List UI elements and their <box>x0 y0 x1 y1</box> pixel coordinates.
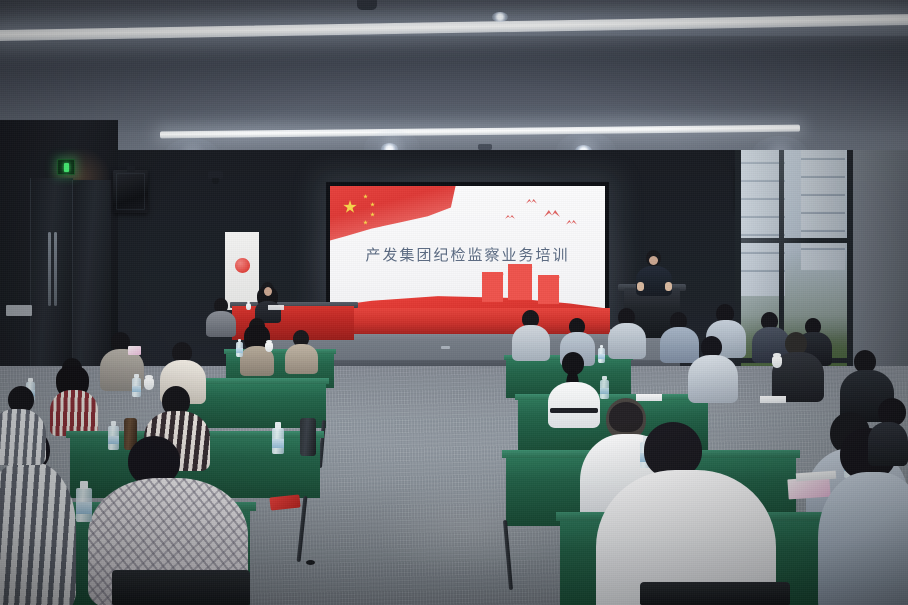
speaker-mount-left <box>127 166 135 172</box>
handout-paper <box>268 305 284 310</box>
chinese-national-flag <box>330 186 456 246</box>
slide-title: 产发集团纪检监察业务培训 <box>330 244 605 265</box>
flying-bird-icon <box>566 220 577 226</box>
lidded-tea-cup <box>265 342 273 352</box>
door-handle[interactable] <box>54 232 57 306</box>
running-man-icon <box>64 163 69 172</box>
pink-note <box>128 346 141 355</box>
lidded-tea-cup <box>772 356 782 368</box>
saluting-figure-silhouette <box>482 272 503 302</box>
wall-switch-plate[interactable] <box>6 305 32 316</box>
stage-floor-marker <box>441 346 450 349</box>
door-handle[interactable] <box>48 232 51 306</box>
presenter-hand-left <box>637 282 644 291</box>
window-transom <box>735 238 853 243</box>
conference-chair[interactable] <box>112 570 250 605</box>
flying-bird-icon <box>526 199 537 205</box>
handout-paper <box>636 394 662 401</box>
presenter-hand-right <box>665 282 672 291</box>
thermos-flask <box>300 418 316 456</box>
ceiling-camera-icon <box>208 171 223 179</box>
water-bottle <box>598 348 605 363</box>
water-bottle <box>600 380 609 399</box>
lidded-tea-cup <box>246 303 251 310</box>
ceiling-recess-band <box>0 36 908 132</box>
chair-foot <box>306 560 315 565</box>
saluting-figure-silhouette <box>538 275 559 304</box>
emergency-exit-sign <box>57 159 75 175</box>
saluting-figure-silhouette <box>508 264 532 300</box>
handout-paper <box>760 396 786 403</box>
conference-room-photo: 产发集团纪检监察业务培训 <box>0 0 908 605</box>
water-bottle <box>76 488 92 522</box>
water-bottle <box>132 378 141 397</box>
lidded-tea-cup <box>144 378 154 390</box>
wall-speaker-left <box>113 170 148 213</box>
speaker-grill <box>116 173 145 210</box>
water-bottle <box>236 342 243 357</box>
banner-red-circle <box>235 258 250 273</box>
ceiling-downlight <box>492 12 508 22</box>
table-surface <box>515 394 711 400</box>
ceiling-smoke-detector <box>357 0 377 10</box>
flying-bird-icon <box>544 210 560 219</box>
water-bottle <box>108 426 119 450</box>
building-exterior <box>801 150 845 270</box>
led-presentation-screen: 产发集团纪检监察业务培训 <box>330 186 605 328</box>
water-bottle <box>272 428 284 454</box>
conference-chair[interactable] <box>640 582 790 605</box>
flying-bird-icon <box>505 215 515 220</box>
